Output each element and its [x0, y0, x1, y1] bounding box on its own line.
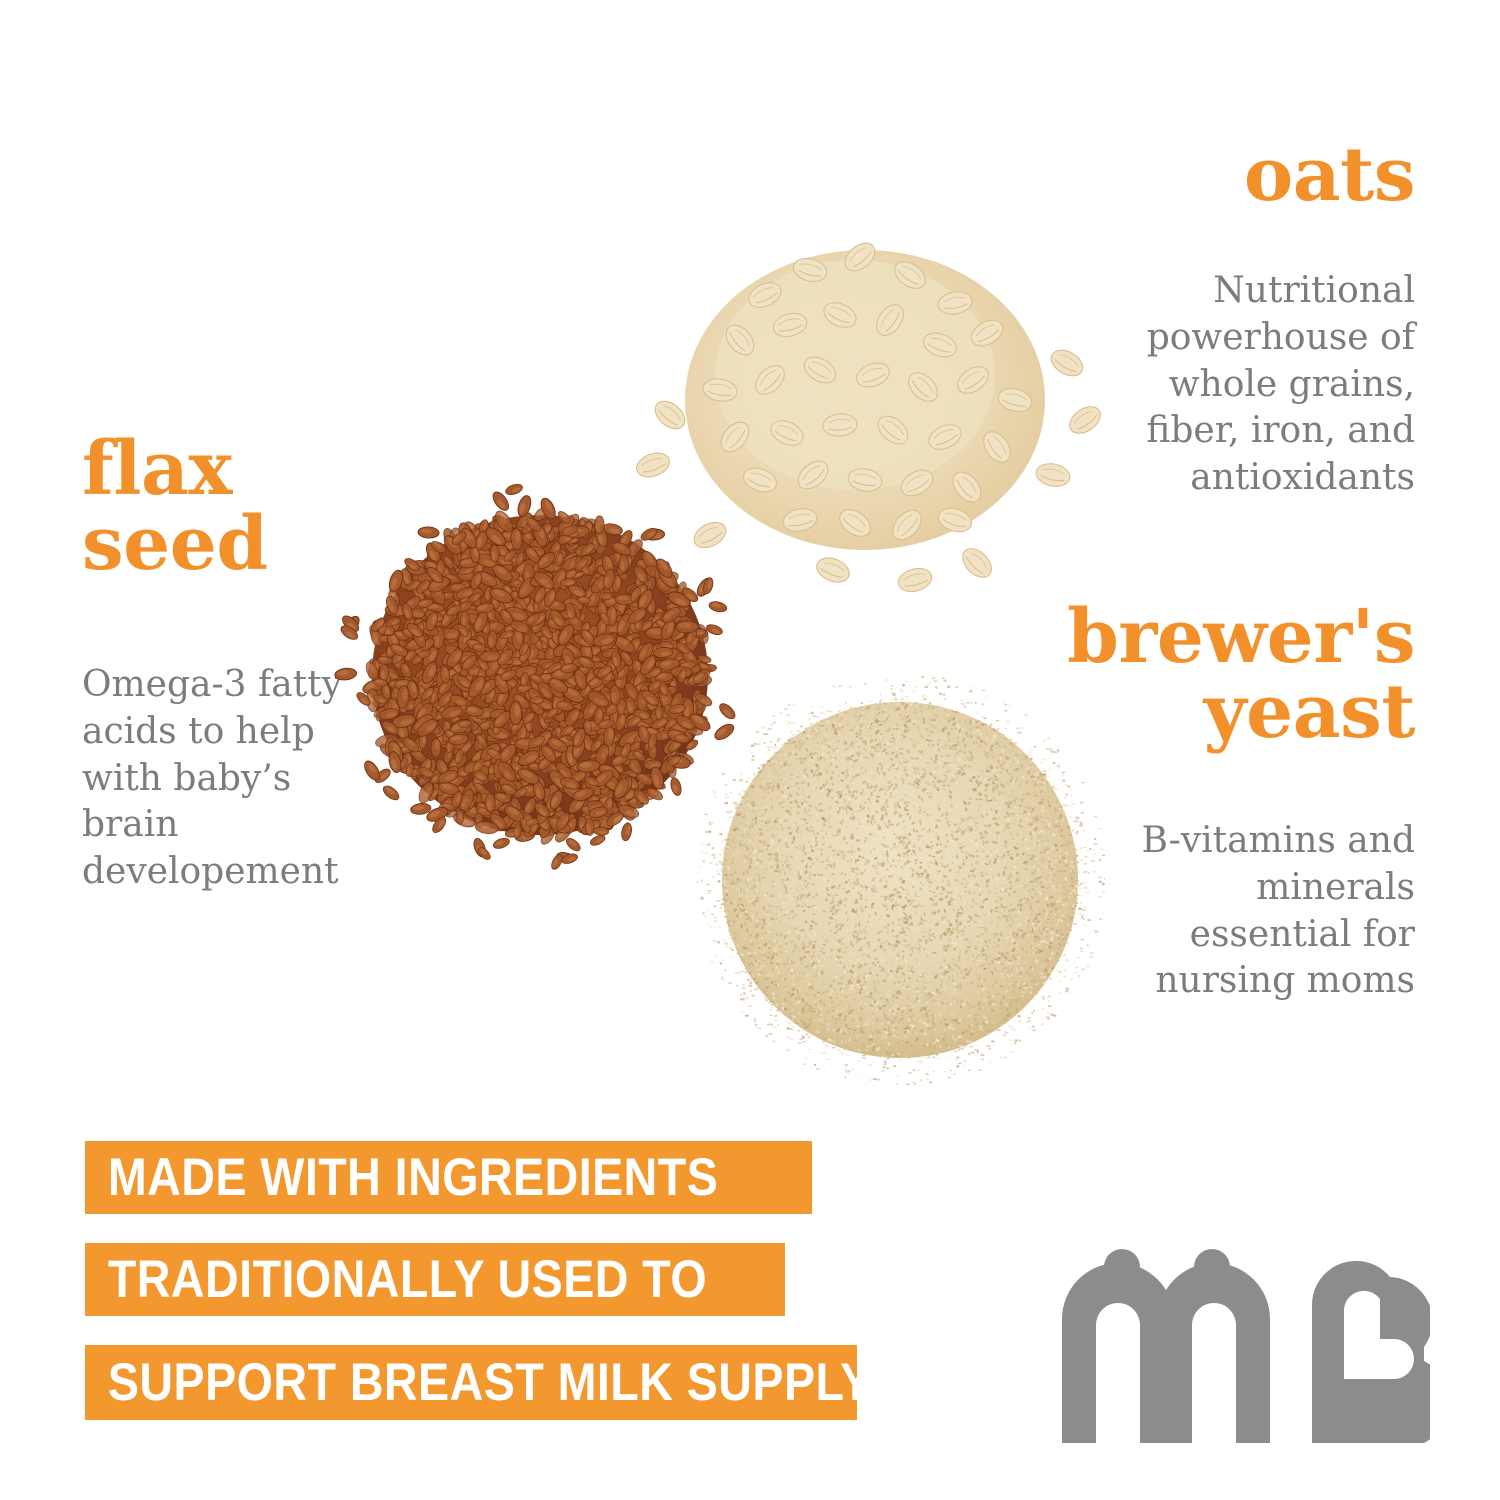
mb-logo: [1060, 1243, 1430, 1443]
infographic-canvas: oats Nutritional powerhouse of whole gra…: [0, 0, 1500, 1500]
brewers-yeast-heading: brewer's yeast: [1067, 600, 1415, 751]
banner-line-2: TRADITIONALLY USED TO: [85, 1243, 785, 1316]
logo-m-glyph: [1062, 1249, 1270, 1443]
banner-line-2-text: TRADITIONALLY USED TO: [85, 1253, 707, 1306]
brewers-yeast-description: B-vitamins and minerals essential for nu…: [1115, 818, 1415, 1005]
brewers-yeast-photo: [695, 675, 1105, 1085]
oats-heading: oats: [1244, 138, 1415, 213]
flax-seed-heading: flax seed: [82, 432, 268, 583]
oats-description: Nutritional powerhouse of whole grains, …: [1115, 268, 1415, 502]
banner-line-3-text: SUPPORT BREAST MILK SUPPLY: [85, 1356, 872, 1409]
banner-line-3: SUPPORT BREAST MILK SUPPLY: [85, 1345, 857, 1420]
banner-line-1-text: MADE WITH INGREDIENTS: [85, 1151, 718, 1204]
banner-line-1: MADE WITH INGREDIENTS: [85, 1141, 812, 1214]
registered-trademark-symbol: ®: [1398, 1396, 1417, 1422]
flax-seed-photo: [330, 455, 750, 885]
